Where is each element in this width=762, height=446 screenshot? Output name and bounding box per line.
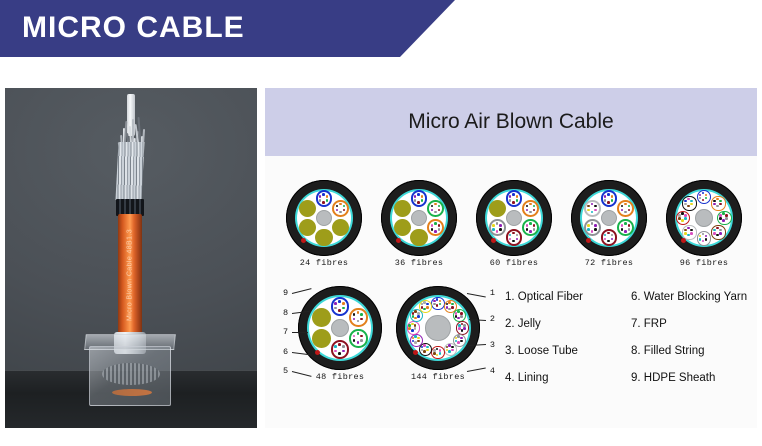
optical-fiber	[594, 209, 597, 212]
filled-string	[312, 308, 331, 327]
optical-fiber	[357, 320, 360, 323]
optical-fiber	[434, 230, 437, 233]
cross-section-item: 48 fibres98765	[297, 286, 383, 382]
optical-fiber	[492, 228, 495, 231]
cross-section-item: 144 fibres1234	[395, 286, 481, 382]
legend-item-2: 2. Jelly	[505, 317, 617, 331]
water-blocking-yarn	[301, 238, 306, 243]
optical-fiber	[512, 232, 515, 235]
optical-fiber	[705, 194, 708, 197]
optical-fiber	[690, 229, 693, 232]
optical-fiber	[439, 303, 442, 306]
optical-fiber	[604, 234, 607, 237]
optical-fiber	[460, 315, 463, 318]
filled-string	[489, 200, 506, 217]
optical-fiber	[591, 222, 594, 225]
loose-tube	[349, 329, 367, 347]
cross-section-item: 24 fibres	[281, 180, 367, 268]
optical-fiber	[434, 211, 437, 214]
optical-fiber	[533, 228, 536, 231]
optical-fiber	[436, 304, 439, 307]
optical-fiber	[353, 335, 356, 338]
optical-fiber	[446, 306, 449, 309]
optical-fiber	[414, 195, 417, 198]
optical-fiber	[591, 230, 594, 233]
optical-fiber	[322, 193, 325, 196]
optical-fiber	[319, 195, 322, 198]
optical-fiber	[421, 346, 424, 349]
loose-tube	[697, 231, 711, 245]
filled-string	[394, 219, 411, 236]
optical-fiber	[687, 234, 690, 237]
acrylic-embedded-coil	[102, 363, 160, 385]
optical-fiber	[529, 222, 532, 225]
optical-fiber	[628, 228, 631, 231]
diagram-panel: Micro Air Blown Cable 24 fibres36 fibres…	[265, 88, 757, 428]
optical-fiber	[334, 350, 337, 353]
optical-fiber	[713, 229, 716, 232]
optical-fiber	[587, 209, 590, 212]
optical-fiber	[423, 350, 426, 353]
optical-fiber	[417, 201, 420, 204]
optical-fiber	[408, 324, 411, 327]
optical-fiber	[451, 346, 454, 349]
panel-title: Micro Air Blown Cable	[265, 88, 757, 156]
optical-fiber	[526, 205, 529, 208]
optical-fiber	[499, 224, 502, 227]
optical-fiber	[414, 317, 417, 320]
optical-fiber	[342, 302, 345, 305]
optical-fiber	[512, 240, 515, 243]
callout-number: 6	[283, 347, 288, 357]
optical-fiber	[690, 203, 693, 206]
optical-fiber	[594, 228, 597, 231]
optical-fiber	[343, 209, 346, 212]
cross-section-label: 48 fibres	[297, 372, 383, 382]
optical-fiber	[719, 229, 722, 232]
optical-fiber	[426, 349, 429, 352]
optical-fiber	[607, 201, 610, 204]
optical-fiber	[338, 300, 341, 303]
optical-fiber	[336, 209, 339, 212]
filled-string	[315, 229, 332, 246]
optical-fiber	[621, 224, 624, 227]
callout-number: 8	[283, 308, 288, 318]
legend-item-4: 4. Lining	[505, 371, 617, 385]
optical-fiber	[499, 228, 502, 231]
loose-tube	[456, 321, 469, 334]
optical-fiber	[463, 327, 466, 330]
callout-leader-line	[292, 332, 308, 333]
optical-fiber	[411, 329, 414, 332]
loose-tube	[506, 229, 523, 246]
optical-fiber	[699, 197, 702, 200]
loose-tube	[410, 334, 423, 347]
optical-fiber	[319, 199, 322, 202]
optical-fiber	[338, 352, 341, 355]
optical-fiber	[434, 222, 437, 225]
optical-fiber	[421, 306, 424, 309]
loose-tube	[682, 196, 696, 210]
optical-fiber	[587, 228, 590, 231]
optical-fiber	[722, 219, 725, 222]
cable-jacket-print: Micro Blown Cable 48B1.3	[127, 229, 134, 321]
bottom-diagram-group: 48 fibres98765144 fibres1234	[265, 286, 497, 382]
optical-fiber	[604, 199, 607, 202]
optical-fiber	[357, 332, 360, 335]
optical-fiber	[516, 238, 519, 241]
loose-tube	[331, 297, 349, 315]
optical-fiber	[336, 205, 339, 208]
optical-fiber	[719, 217, 722, 220]
optical-fiber	[448, 308, 451, 311]
callout-number: 2	[490, 314, 495, 324]
loose-tube	[711, 225, 725, 239]
optical-fiber	[457, 317, 460, 320]
optical-fiber	[702, 192, 705, 195]
optical-fiber	[699, 238, 702, 241]
optical-fiber	[417, 340, 420, 343]
filled-string	[410, 229, 427, 246]
cross-section-item: 72 fibres	[566, 180, 652, 268]
optical-fiber	[611, 199, 614, 202]
water-blocking-yarn	[396, 238, 401, 243]
cable-cross-section	[476, 180, 552, 256]
optical-fiber	[412, 315, 415, 318]
filled-string	[299, 200, 316, 217]
optical-fiber	[353, 313, 356, 316]
optical-fiber	[434, 203, 437, 206]
water-blocking-yarn	[681, 238, 686, 243]
optical-fiber	[725, 217, 728, 220]
optical-fiber	[526, 209, 529, 212]
optical-fiber	[426, 346, 429, 349]
loose-tube	[584, 219, 601, 236]
optical-fiber	[684, 232, 687, 235]
cross-section-label: 24 fibres	[281, 258, 367, 268]
optical-fiber	[455, 312, 458, 315]
cable-cross-section	[286, 180, 362, 256]
optical-fiber	[681, 219, 684, 222]
optical-fiber	[529, 203, 532, 206]
optical-fiber	[529, 230, 532, 233]
cross-section-item: 60 fibres	[471, 180, 557, 268]
optical-fiber	[690, 200, 693, 203]
optical-fiber	[334, 302, 337, 305]
optical-fiber	[417, 337, 420, 340]
optical-fiber	[594, 205, 597, 208]
legend: 1. Optical Fiber 6. Water Blocking Yarn …	[505, 286, 747, 385]
loose-tube	[349, 308, 367, 326]
optical-fiber	[702, 240, 705, 243]
callout-number: 1	[490, 288, 495, 298]
optical-fiber	[421, 199, 424, 202]
cross-section-item: 36 fibres	[376, 180, 462, 268]
optical-fiber	[509, 199, 512, 202]
optical-fiber	[455, 315, 458, 318]
optical-fiber	[604, 238, 607, 241]
optical-fiber	[412, 337, 415, 340]
optical-fiber	[458, 327, 461, 330]
optical-fiber	[607, 232, 610, 235]
legend-item-1: 1. Optical Fiber	[505, 290, 617, 304]
cross-section-label: 60 fibres	[471, 258, 557, 268]
cross-section-row-top: 24 fibres36 fibres60 fibres72 fibres96 f…	[265, 180, 757, 268]
cross-section-label: 72 fibres	[566, 258, 652, 268]
optical-fiber	[624, 222, 627, 225]
optical-fiber	[699, 194, 702, 197]
cable-cross-section	[666, 180, 742, 256]
optical-fiber	[526, 224, 529, 227]
optical-fiber	[426, 306, 429, 309]
optical-fiber	[414, 341, 417, 344]
optical-fiber	[446, 346, 449, 349]
optical-fiber	[713, 232, 716, 235]
optical-fiber	[591, 203, 594, 206]
optical-fiber	[457, 341, 460, 344]
optical-fiber	[587, 224, 590, 227]
optical-fiber	[439, 352, 442, 355]
optical-fiber	[438, 224, 441, 227]
optical-fiber	[431, 205, 434, 208]
optical-fiber	[433, 349, 436, 352]
cable-cross-section	[571, 180, 647, 256]
optical-fiber	[460, 337, 463, 340]
optical-fiber	[604, 195, 607, 198]
loose-tube	[407, 321, 420, 334]
legend-item-9: 9. HDPE Sheath	[631, 371, 747, 385]
optical-fiber	[678, 214, 681, 217]
water-blocking-yarn	[491, 238, 496, 243]
optical-fiber	[423, 308, 426, 311]
optical-fiber	[509, 234, 512, 237]
cross-section-label: 96 fibres	[661, 258, 747, 268]
optical-fiber	[512, 201, 515, 204]
optical-fiber	[526, 228, 529, 231]
optical-fiber	[684, 214, 687, 217]
loose-tube	[711, 196, 725, 210]
optical-fiber	[624, 203, 627, 206]
filled-string	[394, 200, 411, 217]
optical-fiber	[461, 329, 464, 332]
page-title: MICRO CABLE	[22, 9, 245, 47]
water-blocking-yarn	[586, 238, 591, 243]
optical-fiber	[719, 232, 722, 235]
optical-fiber	[702, 233, 705, 236]
optical-fiber	[516, 199, 519, 202]
optical-fiber	[716, 234, 719, 237]
page-root: MICRO CABLE Micro Blown Cable 48B1.3 Mic…	[0, 0, 762, 446]
optical-fiber	[438, 228, 441, 231]
legend-item-3: 3. Loose Tube	[505, 344, 617, 358]
loose-tube	[427, 200, 444, 217]
acrylic-display-block	[89, 346, 171, 406]
frp-strength-member	[695, 209, 713, 227]
optical-fiber	[719, 203, 722, 206]
cable-cross-section	[396, 286, 480, 370]
optical-fiber	[451, 349, 454, 352]
optical-fiber	[326, 199, 329, 202]
optical-fiber	[455, 337, 458, 340]
optical-fiber	[353, 339, 356, 342]
optical-fiber	[699, 235, 702, 238]
optical-fiber	[438, 209, 441, 212]
optical-fiber	[684, 200, 687, 203]
water-blocking-yarn	[315, 350, 320, 355]
optical-fiber	[343, 205, 346, 208]
optical-fiber	[353, 318, 356, 321]
callout-number: 7	[283, 327, 288, 337]
optical-fiber	[611, 238, 614, 241]
loose-tube	[489, 219, 506, 236]
optical-fiber	[705, 238, 708, 241]
optical-fiber	[719, 214, 722, 217]
legend-item-7: 7. FRP	[631, 317, 747, 331]
optical-fiber	[338, 343, 341, 346]
loose-tube	[601, 190, 618, 207]
loose-tube	[506, 190, 523, 207]
optical-fiber	[705, 197, 708, 200]
optical-fiber	[360, 313, 363, 316]
loose-tube	[617, 200, 634, 217]
filled-string	[299, 219, 316, 236]
loose-tube	[601, 229, 618, 246]
cable-loose-tube-bundle	[115, 142, 144, 200]
optical-fiber	[448, 350, 451, 353]
optical-fiber	[417, 193, 420, 196]
loose-tube	[453, 309, 466, 322]
filled-string	[312, 329, 331, 348]
optical-fiber	[591, 211, 594, 214]
optical-fiber	[458, 324, 461, 327]
optical-fiber	[431, 228, 434, 231]
optical-fiber	[713, 200, 716, 203]
optical-fiber	[611, 234, 614, 237]
optical-fiber	[322, 201, 325, 204]
optical-fiber	[439, 300, 442, 303]
callout-number: 9	[283, 288, 288, 298]
optical-fiber	[687, 205, 690, 208]
cross-section-item: 96 fibres	[661, 180, 747, 268]
optical-fiber	[339, 203, 342, 206]
callout-number: 4	[490, 366, 495, 376]
optical-fiber	[509, 195, 512, 198]
optical-fiber	[533, 209, 536, 212]
loose-tube	[522, 200, 539, 217]
optical-fiber	[338, 309, 341, 312]
optical-fiber	[624, 230, 627, 233]
optical-fiber	[702, 199, 705, 202]
optical-fiber	[684, 217, 687, 220]
optical-fiber	[492, 224, 495, 227]
optical-fiber	[607, 240, 610, 243]
acrylic-embedded-jacket	[112, 389, 152, 396]
optical-fiber	[360, 339, 363, 342]
optical-fiber	[628, 205, 631, 208]
optical-fiber	[725, 214, 728, 217]
legend-item-6: 6. Water Blocking Yarn	[631, 290, 747, 304]
optical-fiber	[451, 306, 454, 309]
product-photo: Micro Blown Cable 48B1.3	[5, 88, 257, 428]
loose-tube	[444, 343, 457, 356]
optical-fiber	[678, 217, 681, 220]
optical-fiber	[533, 224, 536, 227]
optical-fiber	[621, 228, 624, 231]
optical-fiber	[684, 229, 687, 232]
cable-orange-jacket: Micro Blown Cable 48B1.3	[118, 214, 142, 336]
optical-fiber	[431, 209, 434, 212]
optical-fiber	[414, 327, 417, 330]
optical-fiber	[512, 193, 515, 196]
optical-fiber	[516, 195, 519, 198]
optical-fiber	[529, 211, 532, 214]
cross-section-row-bottom: 48 fibres98765144 fibres1234 1. Optical …	[265, 286, 757, 385]
optical-fiber	[587, 205, 590, 208]
optical-fiber	[719, 200, 722, 203]
loose-tube	[431, 346, 444, 359]
frp-strength-member	[425, 315, 450, 340]
optical-fiber	[342, 307, 345, 310]
optical-fiber	[690, 232, 693, 235]
loose-tube	[431, 297, 444, 310]
optical-fiber	[594, 224, 597, 227]
optical-fiber	[433, 303, 436, 306]
optical-fiber	[360, 318, 363, 321]
optical-fiber	[433, 300, 436, 303]
optical-fiber	[624, 211, 627, 214]
cable-cross-section	[298, 286, 382, 370]
water-blocking-yarn	[413, 350, 418, 355]
optical-fiber	[607, 193, 610, 196]
optical-fiber	[334, 345, 337, 348]
optical-fiber	[339, 211, 342, 214]
optical-fiber	[509, 238, 512, 241]
loose-tube	[717, 211, 731, 225]
optical-fiber	[326, 195, 329, 198]
optical-fiber	[431, 224, 434, 227]
optical-fiber	[438, 205, 441, 208]
optical-fiber	[357, 311, 360, 314]
optical-fiber	[360, 335, 363, 338]
optical-fiber	[408, 327, 411, 330]
optical-fiber	[716, 205, 719, 208]
optical-fiber	[628, 224, 631, 227]
optical-fiber	[412, 312, 415, 315]
optical-fiber	[705, 235, 708, 238]
optical-fiber	[460, 340, 463, 343]
optical-fiber	[516, 234, 519, 237]
legend-item-8: 8. Filled String	[631, 344, 747, 358]
loose-tube	[316, 190, 333, 207]
loose-tube	[411, 190, 428, 207]
cross-section-label: 144 fibres	[395, 372, 481, 382]
optical-fiber	[533, 205, 536, 208]
optical-fiber	[342, 350, 345, 353]
cable-cross-section	[381, 180, 457, 256]
loose-tube	[332, 200, 349, 217]
optical-fiber	[334, 307, 337, 310]
optical-fiber	[357, 341, 360, 344]
loose-tube	[584, 200, 601, 217]
callout-number: 3	[490, 340, 495, 350]
cross-section-label: 36 fibres	[376, 258, 462, 268]
loose-tube	[331, 340, 349, 358]
optical-fiber	[621, 209, 624, 212]
optical-fiber	[611, 195, 614, 198]
optical-fiber	[433, 352, 436, 355]
optical-fiber	[496, 230, 499, 233]
optical-fiber	[417, 315, 420, 318]
